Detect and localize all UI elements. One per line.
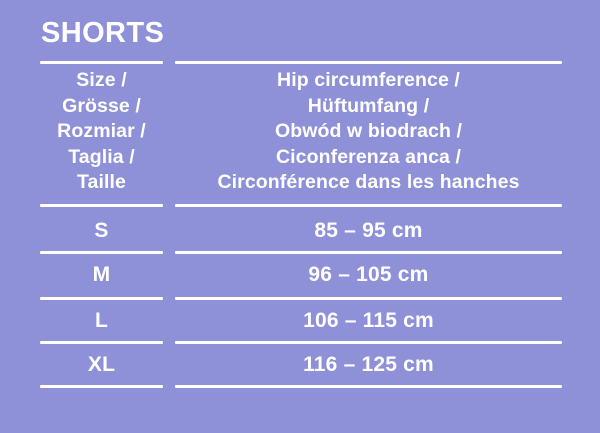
row-size-value: S <box>40 219 163 243</box>
row-size-value: XL <box>40 353 163 377</box>
divider-row-3-right <box>175 341 562 344</box>
size-chart: SHORTS Size / Grösse / Rozmiar / Taglia … <box>0 0 600 433</box>
column-header-measurement: Hip circumference / Hüftumfang / Obwód w… <box>175 68 562 196</box>
row-measurement-value: 116 – 125 cm <box>175 353 562 377</box>
column-header-measurement-line-1: Hip circumference / <box>175 68 562 94</box>
size-table: Size / Grösse / Rozmiar / Taglia / Taill… <box>0 0 600 433</box>
table-header-row: Size / Grösse / Rozmiar / Taglia / Taill… <box>0 68 600 200</box>
row-size-value: M <box>40 263 163 287</box>
column-header-measurement-line-5: Circonférence dans les hanches <box>175 170 562 196</box>
column-header-size-line-1: Size / <box>40 68 163 94</box>
divider-header-right <box>175 204 562 207</box>
divider-row-4-right <box>175 385 562 388</box>
column-header-measurement-line-4: Ciconferenza anca / <box>175 145 562 171</box>
column-header-size-line-4: Taglia / <box>40 145 163 171</box>
divider-header-left <box>40 204 163 207</box>
row-measurement-value: 96 – 105 cm <box>175 263 562 287</box>
column-header-size-line-3: Rozmiar / <box>40 119 163 145</box>
row-measurement-value: 85 – 95 cm <box>175 219 562 243</box>
divider-row-1-right <box>175 251 562 254</box>
column-header-measurement-line-2: Hüftumfang / <box>175 94 562 120</box>
divider-title-right <box>175 61 562 64</box>
column-header-size-line-2: Grösse / <box>40 94 163 120</box>
divider-title-left <box>40 61 163 64</box>
column-header-size: Size / Grösse / Rozmiar / Taglia / Taill… <box>40 68 163 196</box>
row-measurement-value: 106 – 115 cm <box>175 309 562 333</box>
row-size-value: L <box>40 309 163 333</box>
divider-row-4-left <box>40 385 163 388</box>
divider-row-1-left <box>40 251 163 254</box>
column-header-size-line-5: Taille <box>40 170 163 196</box>
divider-row-3-left <box>40 341 163 344</box>
column-header-measurement-line-3: Obwód w biodrach / <box>175 119 562 145</box>
divider-row-2-right <box>175 297 562 300</box>
divider-row-2-left <box>40 297 163 300</box>
